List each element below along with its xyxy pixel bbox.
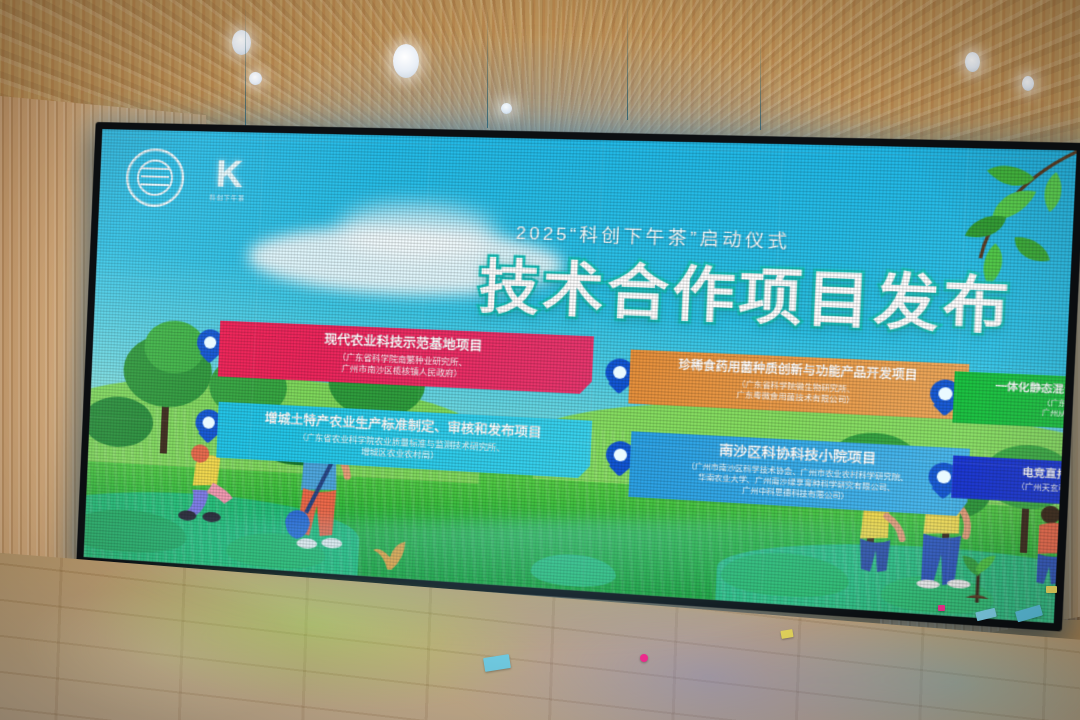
ceiling-light xyxy=(501,103,512,114)
cast-globe-emblem-icon xyxy=(125,148,186,208)
ceiling-wire xyxy=(760,34,761,130)
ceiling-light xyxy=(1022,76,1034,91)
ceiling-wire xyxy=(245,0,246,128)
ceiling-wire xyxy=(627,0,628,120)
ceiling-light xyxy=(965,52,980,72)
floor-card-object xyxy=(1046,586,1057,593)
floor-dot-object xyxy=(938,605,945,611)
tree xyxy=(84,381,155,457)
kechuang-k-logo-subtext: 科创下午茶 xyxy=(209,193,245,203)
room-scene: K 科创下午茶 2025“科创下午茶”启动仪式 技术合作项目发布 现代农业科技示… xyxy=(0,0,1080,720)
ceiling-wire xyxy=(487,10,488,128)
floor-dot-object xyxy=(640,654,648,662)
floor-screen-spill xyxy=(60,520,1020,650)
card-subtitle: （广东省科学院新材料研究所、 广州从化兆奥新材料有限公司） xyxy=(969,395,1076,427)
ceiling-light xyxy=(249,72,262,85)
ceiling-light xyxy=(393,44,419,78)
ceiling-light xyxy=(232,30,251,55)
slide-logos: K 科创下午茶 xyxy=(125,148,248,210)
kechuang-k-logo-icon: K xyxy=(215,157,242,191)
